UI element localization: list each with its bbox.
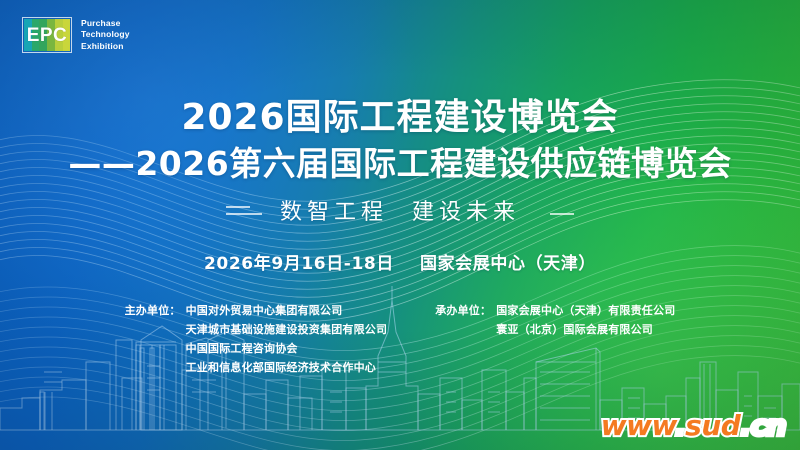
co-organizers-list: 国家会展中心（天津）有限责任公司 寰亚（北京）国际会展有限公司 [496, 301, 675, 339]
watermark-sud: sud [685, 409, 740, 442]
logo-tagline-line3: Exhibition [81, 41, 130, 53]
host-organizers-list: 中国对外贸易中心集团有限公司 天津城市基础设施建设投资集团有限公司 中国国际工程… [186, 301, 388, 377]
epc-logo-text: EPC [23, 18, 71, 52]
host-organizers-column: 主办单位： 中国对外贸易中心集团有限公司 天津城市基础设施建设投资集团有限公司 … [125, 301, 388, 377]
list-item: 国家会展中心（天津）有限责任公司 [496, 301, 675, 320]
headline-primary: 2026国际工程建设博览会 [0, 96, 800, 140]
slogan-left-dashes [226, 206, 262, 215]
slogan-text: 数智工程 建设未来 [280, 194, 520, 226]
watermark-dot-2: . [740, 409, 750, 442]
watermark-www: www [601, 409, 675, 442]
list-item: 中国对外贸易中心集团有限公司 [186, 301, 388, 320]
logo-tagline-line1: Purchase [81, 18, 130, 30]
watermark-dot-1: . [675, 409, 685, 442]
host-organizers-label: 主办单位： [125, 301, 181, 320]
event-poster: EPC Purchase Technology Exhibition 2026国… [0, 0, 800, 450]
logo-tagline-line2: Technology [81, 29, 130, 41]
slogan-row: 数智工程 建设未来 [0, 194, 800, 226]
list-item: 工业和信息化部国际经济技术合作中心 [186, 358, 388, 377]
co-organizers-label: 承办单位： [435, 301, 491, 320]
slogan-right-dashes [538, 206, 574, 215]
epc-logo[interactable]: EPC Purchase Technology Exhibition [22, 17, 130, 53]
list-item: 天津城市基础设施建设投资集团有限公司 [186, 320, 388, 339]
date-venue-line: 2026年9月16日-18日 国家会展中心（天津） [0, 249, 800, 274]
list-item: 中国国际工程咨询协会 [186, 339, 388, 358]
site-watermark: www.sud.cn [601, 412, 786, 440]
list-item: 寰亚（北京）国际会展有限公司 [496, 320, 675, 339]
co-organizers-column: 承办单位： 国家会展中心（天津）有限责任公司 寰亚（北京）国际会展有限公司 [435, 301, 675, 377]
headline-block: 2026国际工程建设博览会 ——2026第六届国际工程建设供应链博览会 [0, 96, 800, 185]
logo-tagline: Purchase Technology Exhibition [81, 18, 130, 53]
organizers-block: 主办单位： 中国对外贸易中心集团有限公司 天津城市基础设施建设投资集团有限公司 … [0, 301, 800, 377]
headline-secondary: ——2026第六届国际工程建设供应链博览会 [0, 143, 800, 185]
watermark-cn: cn [750, 409, 786, 442]
epc-logo-mark: EPC [22, 17, 72, 53]
